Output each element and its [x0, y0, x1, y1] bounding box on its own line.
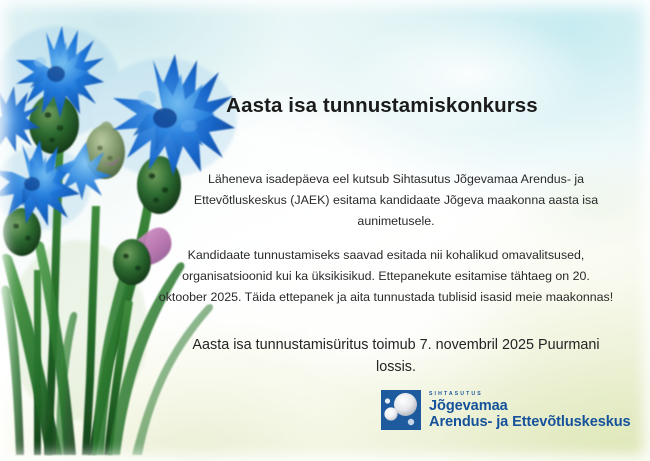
event-date-paragraph: Aasta isa tunnustamisüritus toimub 7. no… — [178, 334, 614, 378]
poster-canvas: Aasta isa tunnustamiskonkurss Läheneva i… — [0, 0, 650, 461]
jaek-bubbles-mark-icon — [380, 389, 422, 431]
logo-name-line2: Arendus- ja Ettevõtluskeskus — [429, 415, 631, 430]
logo-kicker: SIHTASUTUS — [429, 392, 631, 397]
jaek-logo: SIHTASUTUS Jõgevamaa Arendus- ja Ettevõt… — [380, 389, 631, 431]
jaek-logo-text: SIHTASUTUS Jõgevamaa Arendus- ja Ettevõt… — [429, 391, 631, 429]
page-title: Aasta isa tunnustamiskonkurss — [150, 94, 614, 118]
nomination-details-paragraph: Kandidaate tunnustamiseks saavad esitada… — [158, 245, 614, 308]
intro-paragraph: Läheneva isadepäeva eel kutsub Sihtasutu… — [178, 169, 614, 232]
logo-name-line1: Jõgevamaa — [429, 399, 631, 414]
